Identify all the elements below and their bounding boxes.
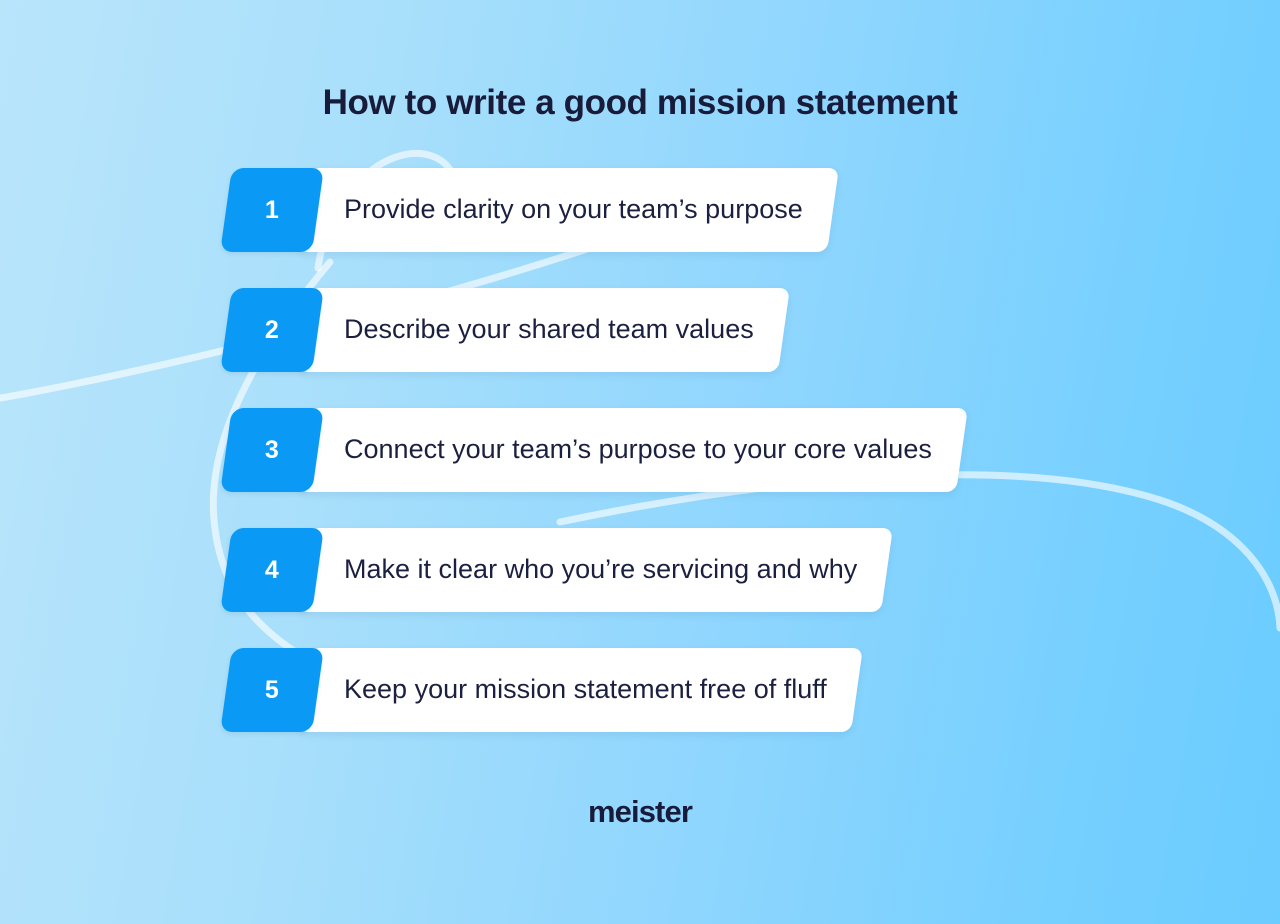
list-item: 4 Make it clear who you’re servicing and… <box>226 528 887 612</box>
page-title: How to write a good mission statement <box>323 82 958 124</box>
brand-wordmark: meister <box>588 794 692 830</box>
step-number: 2 <box>265 318 279 343</box>
step-number-badge: 1 <box>220 168 324 252</box>
step-number-badge: 4 <box>220 528 324 612</box>
infographic-page: How to write a good mission statement 1 … <box>0 0 1280 924</box>
step-card: Keep your mission statement free of fluf… <box>298 648 863 732</box>
step-card: Provide clarity on your team’s purpose <box>298 168 839 252</box>
step-text: Provide clarity on your team’s purpose <box>344 193 803 227</box>
step-text: Make it clear who you’re servicing and w… <box>344 553 857 587</box>
list-item: 3 Connect your team’s purpose to your co… <box>226 408 962 492</box>
step-number: 5 <box>265 678 279 703</box>
step-card: Describe your shared team values <box>298 288 790 372</box>
list-item: 5 Keep your mission statement free of fl… <box>226 648 857 732</box>
step-card: Make it clear who you’re servicing and w… <box>298 528 893 612</box>
step-text: Connect your team’s purpose to your core… <box>344 433 932 467</box>
step-text: Describe your shared team values <box>344 313 754 347</box>
step-card: Connect your team’s purpose to your core… <box>298 408 968 492</box>
step-text: Keep your mission statement free of fluf… <box>344 673 827 707</box>
list-item: 1 Provide clarity on your team’s purpose <box>226 168 833 252</box>
steps-list: 1 Provide clarity on your team’s purpose… <box>0 168 1280 732</box>
step-number: 1 <box>265 198 279 223</box>
list-item: 2 Describe your shared team values <box>226 288 784 372</box>
step-number-badge: 5 <box>220 648 324 732</box>
step-number: 3 <box>265 438 279 463</box>
step-number: 4 <box>265 558 279 583</box>
step-number-badge: 2 <box>220 288 324 372</box>
step-number-badge: 3 <box>220 408 324 492</box>
